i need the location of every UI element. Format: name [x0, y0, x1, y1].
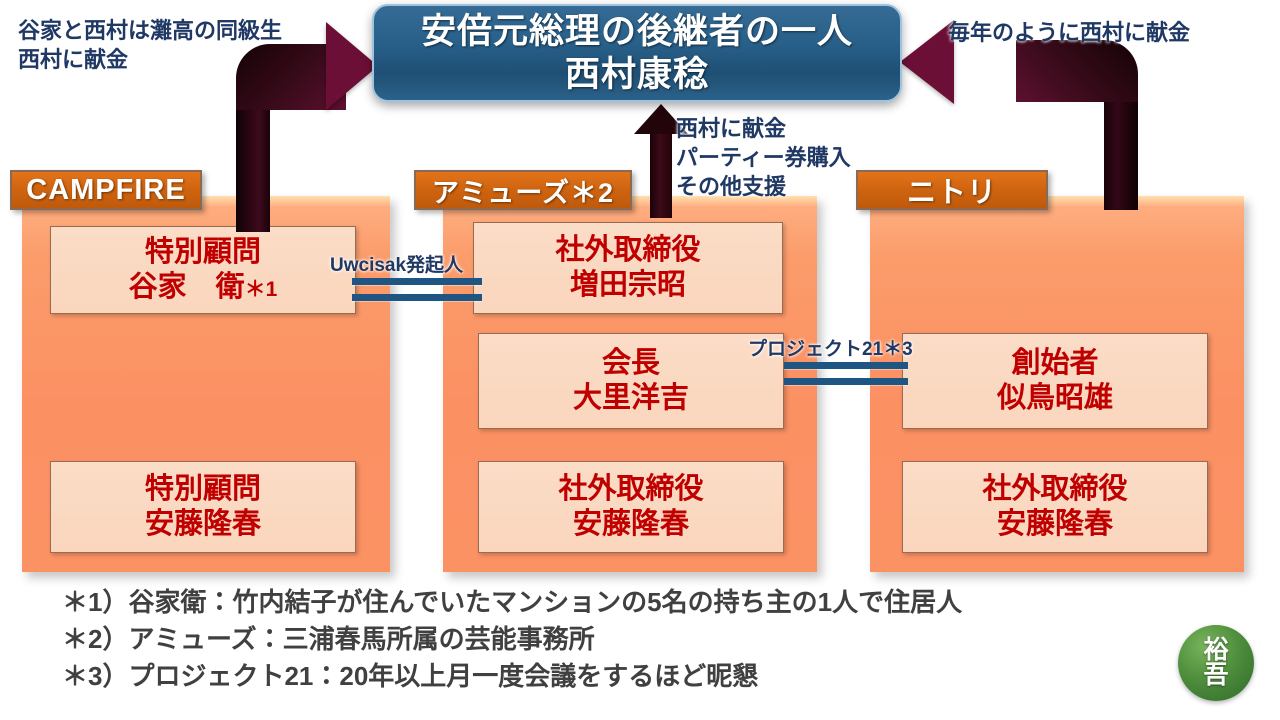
connector-uwcisak — [352, 278, 482, 301]
right-donation-arrow-head — [900, 20, 954, 104]
main-title-line2: 西村康稔 — [565, 53, 709, 96]
card-role: 特別顧問 — [145, 472, 261, 507]
card-campfire-1: 特別顧問 安藤隆春 — [50, 461, 356, 553]
author-logo-badge: 裕 吾 — [1178, 625, 1254, 701]
panel-header-nitori: ニトリ — [856, 170, 1048, 210]
logo-char-2: 吾 — [1203, 663, 1228, 689]
card-name: 似鳥昭雄 — [997, 381, 1113, 416]
card-nitori-0: 創始者 似鳥昭雄 — [902, 333, 1208, 429]
card-name: 谷家 衛＊1 — [129, 270, 278, 305]
center-donation-arrow-stem — [650, 132, 672, 218]
card-amuse-0: 社外取締役 増田宗昭 — [473, 222, 783, 314]
card-role: 社外取締役 — [558, 472, 703, 507]
card-name: 安藤隆春 — [997, 507, 1113, 542]
card-role: 創始者 — [1011, 346, 1098, 381]
diagram-canvas: 安倍元総理の後継者の一人 西村康稔 谷家と西村は灘高の同級生 西村に献金 毎年の… — [0, 0, 1280, 720]
card-role: 社外取締役 — [555, 233, 700, 268]
card-amuse-1: 会長 大里洋吉 — [478, 333, 784, 429]
card-nitori-1: 社外取締役 安藤隆春 — [902, 461, 1208, 553]
card-name: 安藤隆春 — [573, 507, 689, 542]
main-title-box: 安倍元総理の後継者の一人 西村康稔 — [372, 4, 902, 102]
footnotes: ＊1）谷家衛：竹内結子が住んでいたマンションの5名の持ち主の1人で住居人 ＊2）… — [62, 584, 1162, 695]
card-campfire-0: 特別顧問 谷家 衛＊1 — [50, 226, 356, 314]
panel-header-amuse: アミューズ＊2 — [414, 170, 632, 210]
card-name: 安藤隆春 — [145, 507, 261, 542]
card-amuse-2: 社外取締役 安藤隆春 — [478, 461, 784, 553]
left-donation-arrow-head — [326, 22, 378, 110]
right-donation-arrow-stem — [1104, 86, 1138, 210]
footnote-2: ＊2）アミューズ：三浦春馬所属の芸能事務所 — [62, 621, 1162, 658]
logo-char-1: 裕 — [1203, 638, 1228, 664]
card-role: 会長 — [602, 346, 660, 381]
connector-project21-label: プロジェクト21＊3 — [748, 334, 913, 361]
footnote-1: ＊1）谷家衛：竹内結子が住んでいたマンションの5名の持ち主の1人で住居人 — [62, 584, 1162, 621]
annotation-center: 西村に献金 パーティー券購入 その他支援 — [676, 114, 851, 201]
card-name: 大里洋吉 — [573, 381, 689, 416]
right-donation-arrow-elbow — [1016, 40, 1138, 102]
connector-project21 — [784, 362, 908, 385]
connector-uwcisak-label: Uwcisak発起人 — [330, 250, 463, 277]
panel-header-campfire: CAMPFIRE — [10, 170, 202, 210]
card-role: 特別顧問 — [145, 235, 261, 270]
annotation-left: 谷家と西村は灘高の同級生 西村に献金 — [18, 16, 282, 74]
main-title-line1: 安倍元総理の後継者の一人 — [421, 10, 853, 53]
annotation-right: 毎年のように西村に献金 — [948, 18, 1190, 47]
footnote-3: ＊3）プロジェクト21：20年以上月一度会議をするほど昵懇 — [62, 658, 1162, 695]
left-donation-arrow-stem — [236, 108, 270, 232]
card-name: 増田宗昭 — [570, 268, 686, 303]
card-footnote-marker: ＊1 — [245, 278, 278, 301]
card-role: 社外取締役 — [982, 472, 1127, 507]
